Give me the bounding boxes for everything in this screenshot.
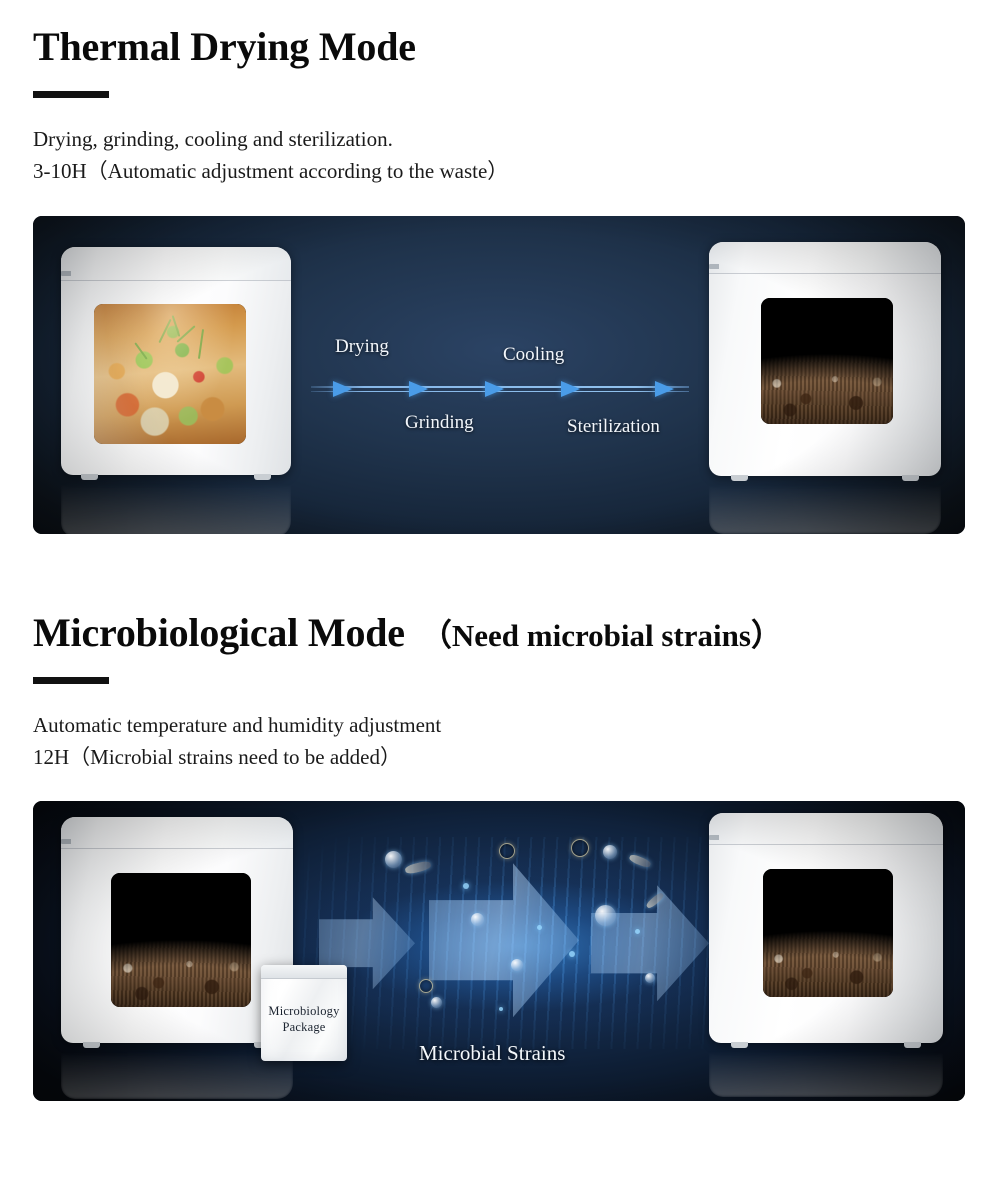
- unit-foot-left: [731, 1042, 748, 1048]
- flow-arrow-2: [409, 381, 428, 397]
- micro-desc-line2: 12H（Microbial strains need to be added）: [33, 742, 1000, 774]
- micro-heading-row: Microbiological Mode （Need microbial str…: [33, 588, 1000, 654]
- composter-unit-output: [709, 242, 941, 476]
- flow-rail: [311, 386, 689, 392]
- page-title: Thermal Drying Mode: [33, 26, 416, 68]
- sachet-label-line1: Microbiology: [268, 1003, 339, 1019]
- composter-unit-input: [61, 247, 291, 475]
- flow-label-cooling: Cooling: [503, 344, 564, 366]
- thermal-rule-bar: [33, 91, 109, 98]
- section-thermal-drying: Thermal Drying Mode Drying, grinding, co…: [0, 0, 1000, 534]
- unit-lid: [709, 242, 941, 274]
- unit-foot-left: [83, 1042, 100, 1048]
- micro-desc-line1: Automatic temperature and humidity adjus…: [33, 713, 441, 737]
- micro-illustration-panel: Microbiology Package Microbial Strains: [33, 801, 965, 1101]
- thermal-desc-line1: Drying, grinding, cooling and sterilizat…: [33, 127, 393, 151]
- unit-window-food: [94, 304, 246, 444]
- unit-foot-right: [254, 474, 271, 480]
- unit-body: [61, 247, 291, 475]
- unit-lid: [61, 247, 291, 281]
- thermal-description: Drying, grinding, cooling and sterilizat…: [33, 124, 1000, 188]
- thermal-desc-line2: 3-10H（Automatic adjustment according to …: [33, 156, 1000, 188]
- unit-lid: [709, 813, 943, 845]
- unit-body: [709, 242, 941, 476]
- composter-unit-input: [61, 817, 293, 1043]
- flow-arrow-5: [655, 381, 674, 397]
- unit-foot-right: [904, 1042, 921, 1048]
- flow-label-drying: Drying: [335, 336, 389, 358]
- micro-title: Microbiological Mode: [33, 612, 405, 654]
- unit-lid-notch: [61, 839, 71, 844]
- sachet-label: Microbiology Package: [268, 1003, 339, 1036]
- flow-arrow-1: [333, 381, 352, 397]
- micro-title-note: （Need microbial strains）: [421, 620, 782, 653]
- microbiology-package: Microbiology Package: [261, 965, 347, 1061]
- unit-foot-left: [731, 475, 748, 481]
- unit-foot-right: [902, 475, 919, 481]
- section-microbiological: Microbiological Mode （Need microbial str…: [0, 588, 1000, 1101]
- composter-unit-output: [709, 813, 943, 1043]
- micro-description: Automatic temperature and humidity adjus…: [33, 710, 1000, 774]
- process-flow: Drying Cooling Grinding Sterilization: [311, 336, 689, 442]
- compost-contents: [761, 298, 893, 424]
- thermal-heading-row: Thermal Drying Mode: [33, 0, 1000, 68]
- unit-lid: [61, 817, 293, 849]
- food-waste-contents: [94, 304, 246, 444]
- flow-label-grinding: Grinding: [405, 412, 474, 434]
- unit-lid-notch: [709, 835, 719, 840]
- unit-lid-notch: [61, 271, 71, 276]
- unit-lid-notch: [709, 264, 719, 269]
- sachet-label-line2: Package: [268, 1019, 339, 1035]
- unit-window-compost: [111, 873, 251, 1007]
- thermal-illustration-panel: Drying Cooling Grinding Sterilization: [33, 216, 965, 534]
- compost-contents: [111, 873, 251, 1007]
- micro-rule-bar: [33, 677, 109, 684]
- unit-body: [61, 817, 293, 1043]
- unit-window-compost: [761, 298, 893, 424]
- flow-label-sterilization: Sterilization: [567, 416, 660, 438]
- microbial-strains-caption: Microbial Strains: [419, 1041, 565, 1066]
- unit-body: [709, 813, 943, 1043]
- infographic-page: Thermal Drying Mode Drying, grinding, co…: [0, 0, 1000, 1179]
- flow-arrow-3: [485, 381, 504, 397]
- unit-window-compost: [763, 869, 893, 997]
- flow-arrow-4: [561, 381, 580, 397]
- compost-contents: [763, 869, 893, 997]
- unit-foot-left: [81, 474, 98, 480]
